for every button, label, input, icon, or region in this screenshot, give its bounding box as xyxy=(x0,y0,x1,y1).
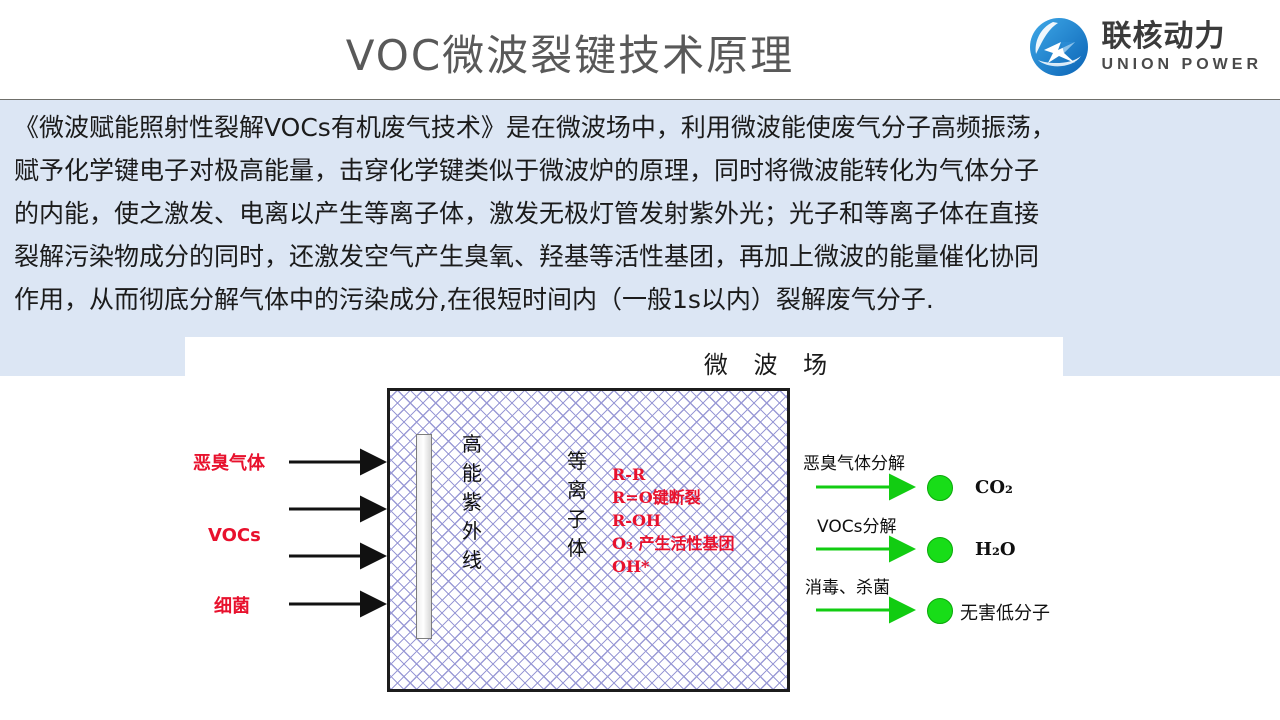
product-dot-molecule xyxy=(927,598,953,624)
product-dot-h2o xyxy=(927,537,953,563)
reaction-item: OH* xyxy=(612,555,735,578)
paragraph-line: 的内能，使之激发、电离以产生等离子体，激发无极灯管发射紫外光；光子和等离子体在直… xyxy=(14,192,1272,235)
microwave-field-caption: 微 波 场 xyxy=(605,345,935,380)
product-label-h2o: H₂O xyxy=(975,539,1016,560)
input-label-vocs: VOCs xyxy=(208,525,261,546)
product-label-molecule: 无害低分子 xyxy=(960,599,1050,625)
paragraph-line: 作用，从而彻底分解气体中的污染成分,在很短时间内（一般1s以内）裂解废气分子. xyxy=(14,278,1272,321)
reaction-item: R-OH xyxy=(612,509,735,532)
process-diagram: 微 波 场 xyxy=(185,337,1063,720)
reaction-item: O₃ 产生活性基团 xyxy=(612,532,735,555)
page-title: VOC微波裂键技术原理 xyxy=(260,22,880,83)
description-paragraph: 《微波赋能照射性裂解VOCs有机废气技术》是在微波场中，利用微波能使废气分子高频… xyxy=(14,106,1272,321)
reaction-list: R-R R=O键断裂 R-OH O₃ 产生活性基团 OH* xyxy=(612,463,735,578)
product-label-co2: CO₂ xyxy=(975,477,1013,498)
reaction-item: R-R xyxy=(612,463,735,486)
microwave-field-box: 高能紫外线 等离子体 R-R R=O键断裂 R-OH O₃ 产生活性基团 OH* xyxy=(387,388,790,692)
output-process-sterilize: 消毒、杀菌 xyxy=(805,573,890,598)
company-logo: 联核动力 UNION POWER xyxy=(1028,14,1262,80)
uv-lamp-tube-icon xyxy=(416,434,432,639)
paragraph-line: 赋予化学键电子对极高能量，击穿化学键类似于微波炉的原理，同时将微波能转化为气体分… xyxy=(14,149,1272,192)
logo-chinese-name: 联核动力 xyxy=(1102,22,1262,52)
product-dot-co2 xyxy=(927,475,953,501)
input-label-bacteria: 细菌 xyxy=(214,592,250,618)
plasma-label: 等离子体 xyxy=(564,447,590,563)
input-label-odorous-gas: 恶臭气体 xyxy=(193,449,265,475)
output-process-odor: 恶臭气体分解 xyxy=(803,449,905,474)
logo-wordmark: 联核动力 UNION POWER xyxy=(1102,22,1262,73)
uv-label: 高能紫外线 xyxy=(459,430,485,575)
globe-swoosh-logo-icon xyxy=(1028,16,1090,78)
page-header: VOC微波裂键技术原理 联核动力 UNION xyxy=(0,0,1280,96)
paragraph-line: 《微波赋能照射性裂解VOCs有机废气技术》是在微波场中，利用微波能使废气分子高频… xyxy=(14,106,1272,149)
output-process-vocs: VOCs分解 xyxy=(817,512,896,537)
description-band: 《微波赋能照射性裂解VOCs有机废气技术》是在微波场中，利用微波能使废气分子高频… xyxy=(0,100,1280,376)
reaction-item: R=O键断裂 xyxy=(612,486,735,509)
logo-english-name: UNION POWER xyxy=(1102,57,1262,73)
paragraph-line: 裂解污染物成分的同时，还激发空气产生臭氧、羟基等活性基团，再加上微波的能量催化协… xyxy=(14,235,1272,278)
